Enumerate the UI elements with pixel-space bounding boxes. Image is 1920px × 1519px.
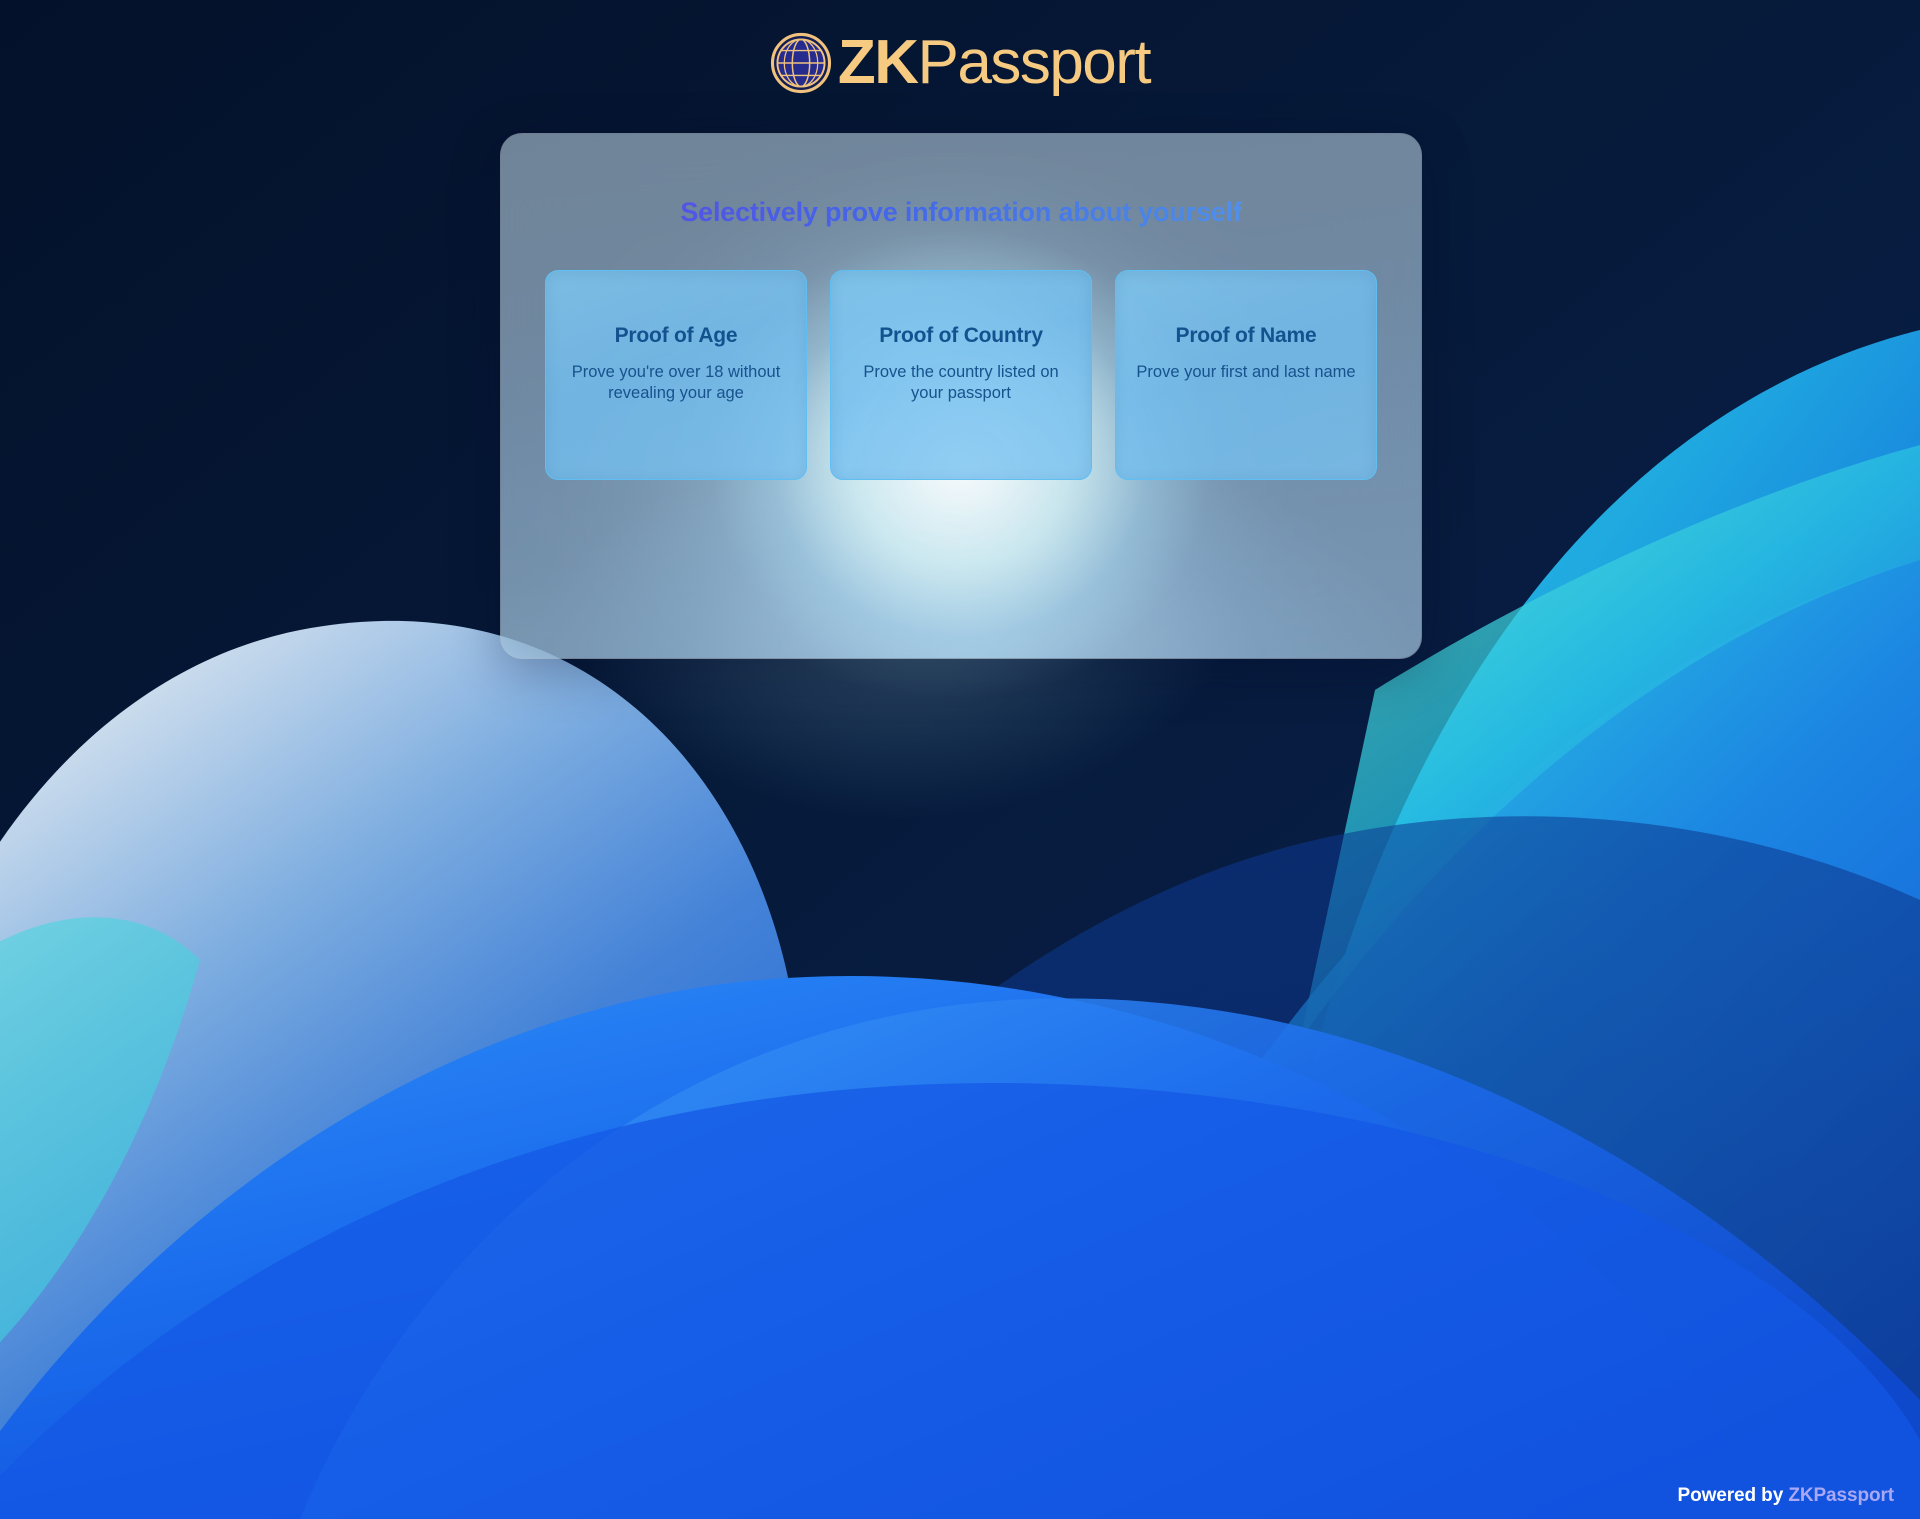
globe-icon <box>770 32 832 94</box>
proof-card-name[interactable]: Proof of Name Prove your first and last … <box>1115 270 1377 480</box>
brand-logo[interactable]: ZKPassport <box>770 32 1150 94</box>
panel-content: Selectively prove information about your… <box>501 134 1421 658</box>
brand-passport: Passport <box>917 28 1150 97</box>
powered-by-footer: Powered by ZKPassport <box>1678 1485 1894 1507</box>
app-root: ZKPassport Selectively prove information… <box>0 0 1920 1519</box>
proof-card-age[interactable]: Proof of Age Prove you're over 18 withou… <box>545 270 807 480</box>
proof-card-description: Prove the country listed on your passpor… <box>847 362 1075 404</box>
page-title: Selectively prove information about your… <box>501 196 1421 228</box>
proof-selection-panel: Selectively prove information about your… <box>500 133 1422 659</box>
proof-card-description: Prove you're over 18 without revealing y… <box>562 362 790 404</box>
proof-card-title: Proof of Age <box>562 323 790 348</box>
powered-by-label: Powered by <box>1678 1485 1784 1506</box>
proof-card-title: Proof of Country <box>847 323 1075 348</box>
proof-card-country[interactable]: Proof of Country Prove the country liste… <box>830 270 1092 480</box>
proof-card-description: Prove your first and last name <box>1132 362 1360 383</box>
proof-options-list: Proof of Age Prove you're over 18 withou… <box>501 270 1421 480</box>
brand-wordmark: ZKPassport <box>838 32 1150 94</box>
brand-zk: ZK <box>838 28 918 97</box>
proof-card-title: Proof of Name <box>1132 323 1360 348</box>
powered-by-brand[interactable]: ZKPassport <box>1788 1485 1894 1506</box>
app-header: ZKPassport <box>0 0 1920 125</box>
